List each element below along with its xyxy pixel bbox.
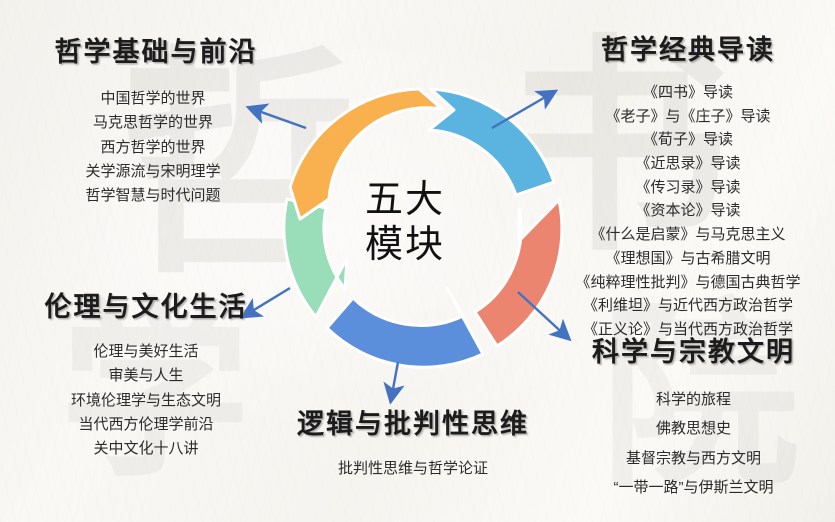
wheel-center-line1: 五大 — [344, 178, 466, 223]
course-item[interactable]: 环境伦理学与生态文明 — [6, 389, 286, 413]
course-item[interactable]: 伦理与美好生活 — [6, 340, 286, 364]
course-item[interactable]: 《利维坦》与近代西方政治哲学 — [548, 294, 828, 318]
wheel-segment-ethics[interactable] — [284, 199, 347, 317]
course-item[interactable]: 关中文化十八讲 — [6, 437, 286, 461]
course-item[interactable]: “一带一路”与伊斯兰文明 — [556, 473, 831, 502]
course-item[interactable]: 科学的旅程 — [556, 385, 831, 414]
wheel-segment-logic[interactable] — [327, 288, 483, 367]
course-item[interactable]: 《近思录》导读 — [548, 152, 828, 176]
section-title-logic: 逻辑与批判性思维 — [268, 402, 558, 441]
course-item[interactable]: 《传习录》导读 — [548, 176, 828, 200]
course-item[interactable]: 基督宗教与西方文明 — [556, 444, 831, 473]
course-item[interactable]: 《四书》导读 — [548, 81, 828, 105]
course-item[interactable]: 《理想国》与古希腊文明 — [548, 247, 828, 271]
wheel-center-line2: 模块 — [344, 223, 466, 268]
course-item[interactable]: 批判性思维与哲学论证 — [268, 457, 558, 481]
course-item[interactable]: 关学源流与宋明理学 — [18, 160, 288, 184]
section-foundations: 哲学基础与前沿 中国哲学的世界 马克思哲学的世界 西方哲学的世界 关学源流与宋明… — [18, 30, 288, 208]
section-classics: 哲学经典导读 《四书》导读 《老子》与《庄子》导读 《荀子》导读 《近思录》导读… — [548, 28, 828, 342]
infographic-canvas: 哲 书 学 院 五大 模块 — [0, 0, 835, 522]
course-list-classics: 《四书》导读 《老子》与《庄子》导读 《荀子》导读 《近思录》导读 《传习录》导… — [548, 81, 828, 342]
course-item[interactable]: 中国哲学的世界 — [18, 87, 288, 111]
course-list-ethics: 伦理与美好生活 审美与人生 环境伦理学与生态文明 当代西方伦理学前沿 关中文化十… — [6, 340, 286, 461]
section-title-classics: 哲学经典导读 — [548, 28, 828, 67]
wheel-center-label: 五大 模块 — [344, 178, 466, 268]
course-item[interactable]: 西方哲学的世界 — [18, 136, 288, 160]
section-title-science: 科学与宗教文明 — [556, 330, 831, 369]
section-title-ethics: 伦理与文化生活 — [6, 285, 286, 324]
course-item[interactable]: 马克思哲学的世界 — [18, 111, 288, 135]
section-title-foundations: 哲学基础与前沿 — [24, 30, 288, 69]
course-item[interactable]: 《荀子》导读 — [548, 128, 828, 152]
course-item[interactable]: 《纯粹理性批判》与德国古典哲学 — [548, 271, 828, 295]
course-item[interactable]: 当代西方伦理学前沿 — [6, 413, 286, 437]
section-logic: 逻辑与批判性思维 批判性思维与哲学论证 — [268, 402, 558, 481]
section-ethics: 伦理与文化生活 伦理与美好生活 审美与人生 环境伦理学与生态文明 当代西方伦理学… — [6, 285, 286, 461]
course-list-logic: 批判性思维与哲学论证 — [268, 457, 558, 481]
section-science: 科学与宗教文明 科学的旅程 佛教思想史 基督宗教与西方文明 “一带一路”与伊斯兰… — [556, 330, 831, 502]
course-item[interactable]: 《什么是启蒙》与马克思主义 — [548, 223, 828, 247]
course-item[interactable]: 审美与人生 — [6, 364, 286, 388]
course-item[interactable]: 佛教思想史 — [556, 414, 831, 443]
course-list-science: 科学的旅程 佛教思想史 基督宗教与西方文明 “一带一路”与伊斯兰文明 — [556, 385, 831, 502]
course-list-foundations: 中国哲学的世界 马克思哲学的世界 西方哲学的世界 关学源流与宋明理学 哲学智慧与… — [18, 87, 288, 208]
course-item[interactable]: 《老子》与《庄子》导读 — [548, 105, 828, 129]
course-item[interactable]: 哲学智慧与时代问题 — [18, 184, 288, 208]
course-item[interactable]: 《资本论》导读 — [548, 199, 828, 223]
